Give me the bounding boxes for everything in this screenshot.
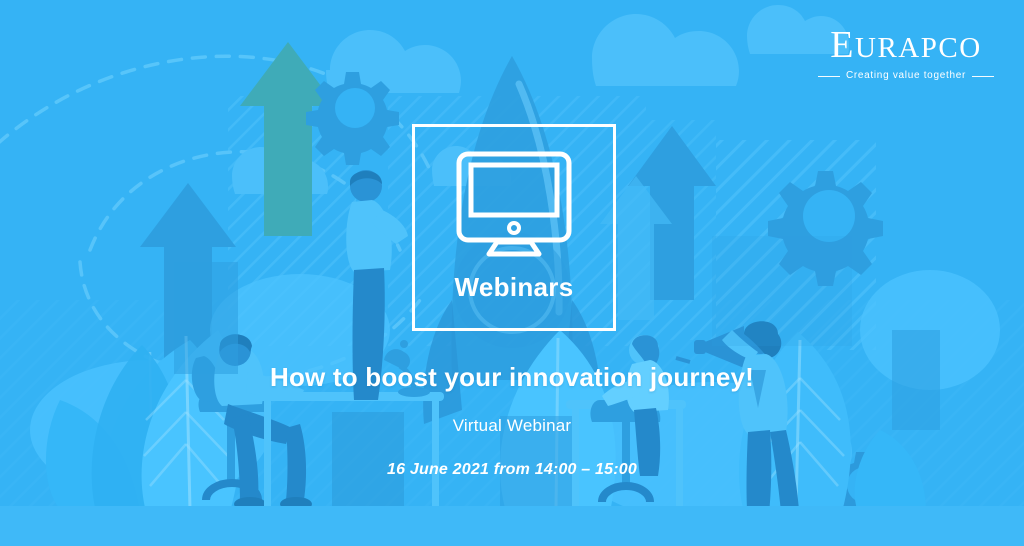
card-label: Webinars	[455, 272, 574, 303]
logo-wordmark: EURAPCO	[818, 26, 994, 64]
logo-tagline-text: Creating value together	[846, 71, 966, 81]
page-title: How to boost your innovation journey!	[0, 362, 1024, 393]
logo-tagline: Creating value together	[818, 71, 994, 81]
tagline-rule-left	[818, 76, 840, 77]
webinars-card: Webinars	[412, 124, 616, 331]
webinar-banner: EURAPCO Creating value together Webinars…	[0, 0, 1024, 546]
event-type-label: Virtual Webinar	[0, 416, 1024, 436]
gear-icon	[306, 72, 399, 165]
event-datetime: 16 June 2021 from 14:00 – 15:00	[0, 461, 1024, 479]
tagline-rule-right	[972, 76, 994, 77]
headline-block: How to boost your innovation journey! Vi…	[0, 362, 1024, 479]
eurapco-logo: EURAPCO Creating value together	[818, 26, 994, 81]
ground-band	[0, 506, 1024, 546]
desktop-monitor-icon	[453, 150, 575, 258]
